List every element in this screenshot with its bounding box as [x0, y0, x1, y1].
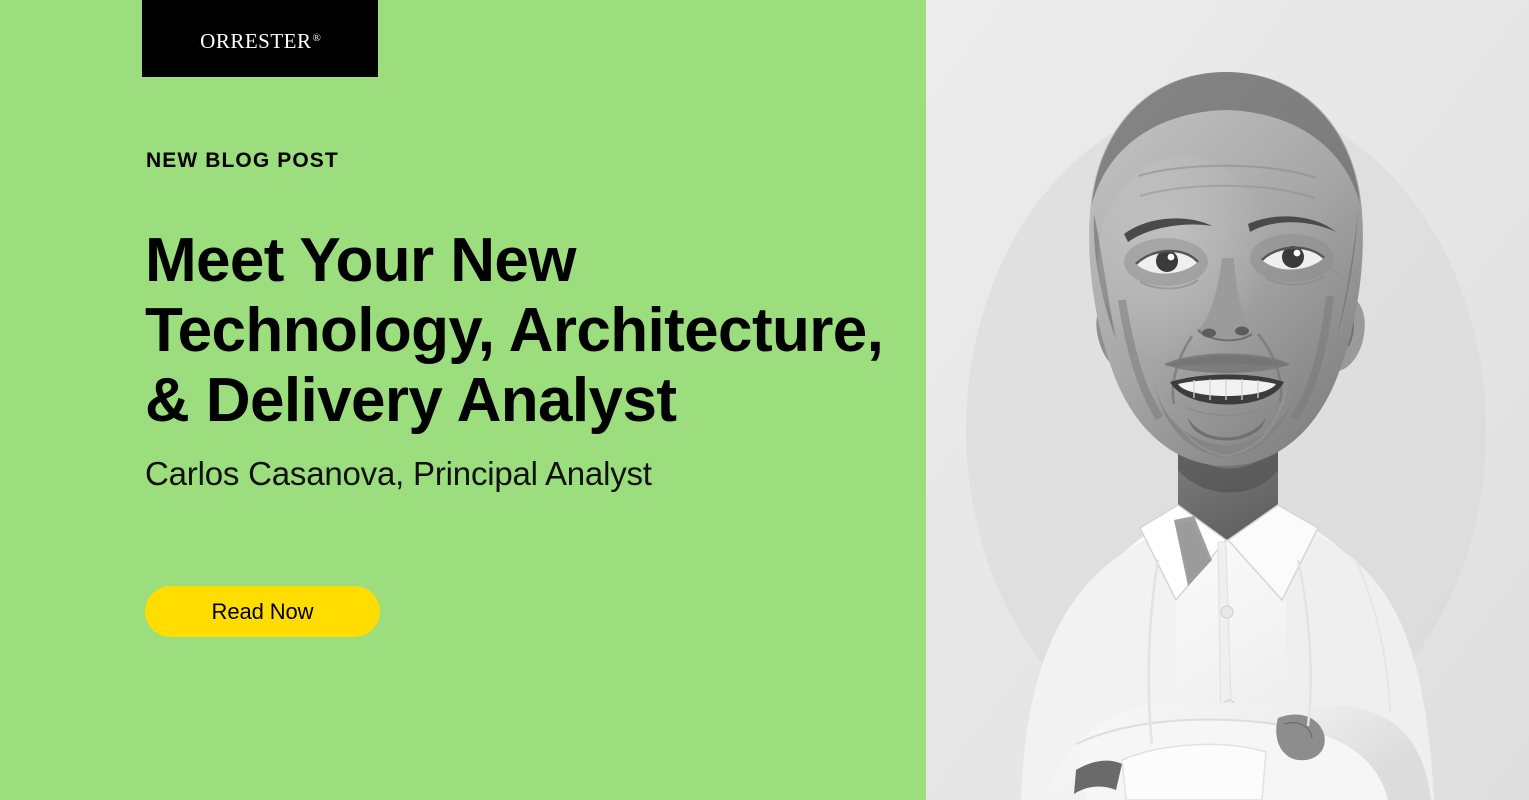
read-now-button[interactable]: Read Now: [145, 586, 380, 637]
promo-card: Forrester® NEW BLOG POST Meet Your New T…: [0, 0, 1529, 800]
headline-line-2: Technology, Architecture,: [145, 296, 905, 366]
forrester-logo: Forrester®: [142, 0, 378, 77]
author-byline: Carlos Casanova, Principal Analyst: [145, 454, 652, 494]
registered-trademark-icon: ®: [313, 33, 321, 44]
author-portrait: [926, 0, 1529, 800]
eyebrow-label: NEW BLOG POST: [146, 150, 339, 171]
logo-wordmark: Forrester: [199, 24, 311, 54]
headline-line-1: Meet Your New: [145, 226, 905, 296]
page-title: Meet Your New Technology, Architecture, …: [145, 226, 905, 436]
content-panel: Forrester® NEW BLOG POST Meet Your New T…: [0, 0, 926, 800]
headline-line-3: & Delivery Analyst: [145, 366, 905, 436]
